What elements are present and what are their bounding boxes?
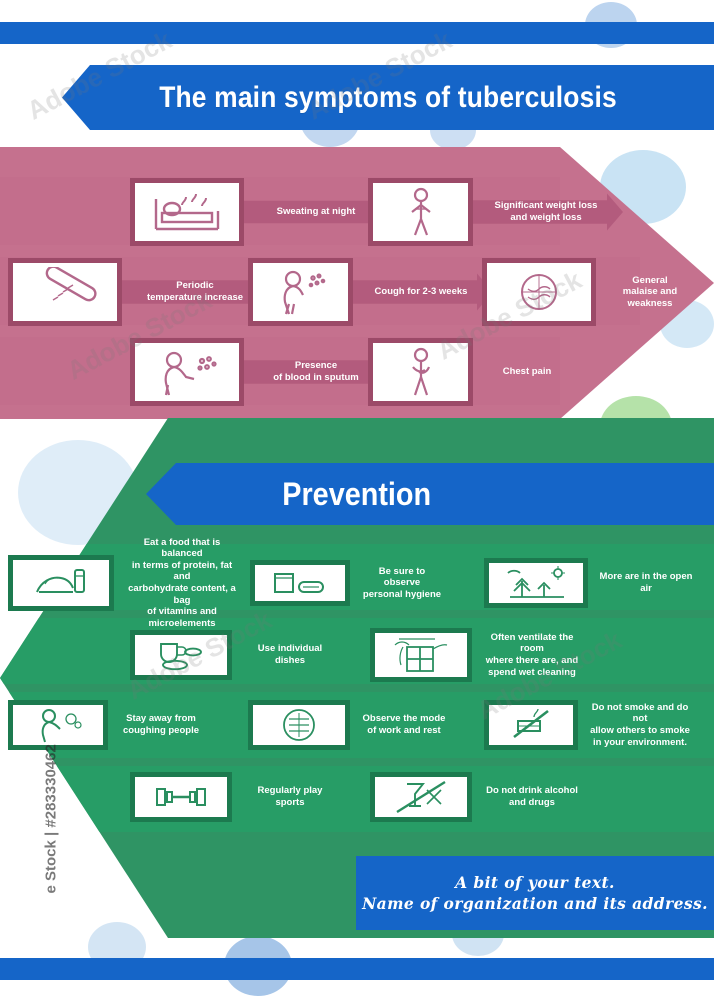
thermometer-icon	[25, 267, 105, 317]
symptom-icon-card	[482, 258, 596, 326]
symptom-icon-card	[368, 178, 473, 246]
prevention-icon-card	[248, 700, 350, 750]
prevention-item: Do not drink alcohol and drugs	[370, 772, 596, 822]
prevention-icon-card	[250, 560, 350, 606]
healthy-food-icon	[29, 564, 93, 602]
prevention-item: Eat a food that is balanced in terms of …	[8, 555, 254, 611]
symptom-label: Chest pain	[473, 351, 585, 393]
symptom-icon-card	[368, 338, 473, 406]
open-air-nature-icon	[502, 565, 570, 601]
prevention-label: Often ventilate the room where there are…	[472, 628, 596, 682]
symptom-item: Chest pain	[368, 338, 585, 406]
symptom-icon-card	[8, 258, 122, 326]
top-blue-rule	[0, 22, 714, 44]
prevention-icon-card	[8, 700, 108, 750]
symptom-label: General malaise and weakness	[596, 271, 708, 313]
green-band	[0, 766, 714, 832]
symptom-item: General malaise and weakness	[482, 258, 708, 326]
symptoms-title-banner: The main symptoms of tuberculosis	[62, 65, 714, 130]
footer-banner: A bit of your text. Name of organization…	[356, 856, 714, 930]
prevention-label: Eat a food that is balanced in terms of …	[114, 555, 254, 611]
green-band	[0, 618, 714, 684]
blood-sputum-icon	[152, 347, 222, 397]
prevention-icon-card	[130, 772, 232, 822]
prevention-item: Do not smoke and do not allow others to …	[484, 700, 706, 750]
symptom-item: Sweating at night	[130, 178, 392, 246]
symptom-item: Significant weight loss and weight loss	[368, 178, 623, 246]
thin-person-icon	[401, 187, 441, 237]
prevention-label: More are in the open air	[588, 558, 708, 608]
prevention-item: Often ventilate the room where there are…	[370, 628, 596, 682]
symptom-icon-card	[130, 178, 244, 246]
bed-sweating-icon	[148, 189, 226, 235]
footer-line-1: A bit of your text.	[455, 873, 615, 892]
open-window-icon	[389, 635, 453, 675]
prevention-label: Use individual dishes	[232, 630, 352, 680]
dizzy-head-icon	[516, 269, 562, 315]
prevention-label: Do not smoke and do not allow others to …	[578, 700, 706, 750]
symptom-label: Cough for 2-3 weeks	[353, 271, 493, 313]
infographic-poster: The main symptoms of tuberculosis Sweati…	[0, 0, 714, 1000]
prevention-label: Do not drink alcohol and drugs	[472, 772, 596, 822]
prevention-item: Be sure to observe personal hygiene	[250, 560, 458, 606]
prevention-icon-card	[370, 772, 472, 822]
individual-dishes-icon	[149, 638, 213, 672]
prevention-title: Prevention	[283, 476, 432, 513]
dumbbell-icon	[149, 783, 213, 811]
prevention-item: More are in the open air	[484, 558, 708, 608]
symptom-item: Presence of blood in sputum	[130, 338, 392, 406]
coughing-person-icon	[273, 267, 329, 317]
no-alcohol-drugs-icon	[393, 778, 449, 816]
prevention-icon-card	[130, 630, 232, 680]
prevention-icon-card	[484, 700, 578, 750]
clock-rest-icon	[279, 705, 319, 745]
symptom-item: Periodic temperature increase	[8, 258, 272, 326]
prevention-icon-card	[484, 558, 588, 608]
footer-line-2: Name of organization and its address.	[362, 894, 708, 913]
symptom-icon-card	[248, 258, 353, 326]
prevention-label: Stay away from coughing people	[108, 700, 218, 750]
prevention-item: Stay away from coughing people	[8, 700, 218, 750]
prevention-label: Regularly play sports	[232, 772, 352, 822]
prevention-icon-card	[370, 628, 472, 682]
prevention-item: Use individual dishes	[130, 630, 352, 680]
symptom-label: Significant weight loss and weight loss	[473, 191, 623, 233]
chest-pain-person-icon	[401, 347, 441, 397]
symptom-item: Cough for 2-3 weeks	[248, 258, 493, 326]
prevention-label: Be sure to observe personal hygiene	[350, 560, 458, 606]
page-title: The main symptoms of tuberculosis	[159, 81, 617, 115]
prevention-item: Regularly play sports	[130, 772, 352, 822]
bottom-blue-rule	[0, 958, 714, 980]
coughing-person-avoid-icon	[27, 707, 89, 743]
symptom-icon-card	[130, 338, 244, 406]
soap-hygiene-icon	[269, 568, 331, 598]
prevention-label: Observe the mode of work and rest	[350, 700, 462, 750]
prevention-item: Observe the mode of work and rest	[248, 700, 462, 750]
prevention-icon-card	[8, 555, 114, 611]
no-smoking-icon	[508, 707, 554, 743]
